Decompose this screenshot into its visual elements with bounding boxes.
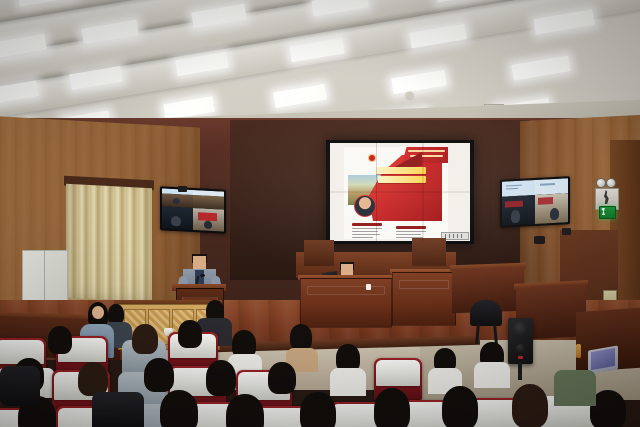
ceiling-light [511, 55, 571, 80]
ceiling-light [273, 84, 327, 108]
foreground-chair[interactable] [92, 392, 144, 427]
dais-panel-inset [399, 280, 449, 289]
credit-left-line [352, 237, 373, 238]
vc-tile [193, 208, 224, 232]
attendee-hair [268, 362, 296, 394]
slide-title-line-2 [378, 176, 426, 183]
attendee-hair [78, 362, 108, 396]
emergency-lights [596, 178, 616, 187]
attendee-hair [144, 358, 174, 392]
attendee-hair [374, 388, 410, 427]
credit-left-heading [352, 223, 382, 226]
credit-right-line [396, 231, 426, 232]
seat-headrest-cover [376, 360, 420, 386]
emergency-lamp-icon [596, 178, 606, 188]
dais-back-inset-right [412, 238, 446, 266]
video-wall-screen[interactable] [330, 143, 470, 241]
vc-tile [535, 193, 568, 224]
attendee-hair [132, 324, 158, 354]
vc-tile [502, 195, 535, 226]
right-video-conference-monitor[interactable] [500, 176, 570, 228]
attendee-body [554, 370, 596, 406]
conference-hall-photo [0, 0, 640, 427]
attendee-hair [290, 324, 312, 350]
exit-sign [599, 206, 616, 219]
ceiling-light [391, 70, 447, 95]
attendee-hair [512, 384, 548, 427]
wall-camera-icon [562, 228, 571, 235]
attendee-blue-head [92, 306, 104, 319]
slide-banner-text [408, 150, 445, 152]
attendee-hair [178, 320, 202, 348]
attendee-hair [48, 326, 72, 354]
slide-title-line-1 [376, 167, 426, 174]
left-video-conference-monitor[interactable] [160, 186, 226, 233]
credit-left-line [352, 231, 378, 232]
vc-tile [193, 190, 224, 209]
slide-credit-left [352, 223, 382, 238]
credit-left-line [352, 234, 380, 235]
slide-credit-right [396, 226, 426, 238]
dais-back-inset-left [304, 240, 334, 266]
wall-camera-icon [178, 186, 187, 192]
party-emblem-icon [368, 154, 376, 162]
bench-cup [366, 284, 371, 290]
slide-credits-area [344, 221, 448, 239]
wall-camera-icon [534, 236, 545, 244]
attendee-hair [300, 392, 336, 427]
dais-panel-inset [307, 286, 385, 295]
credit-left-line [352, 228, 382, 229]
foreground-chair[interactable] [0, 366, 40, 406]
emergency-lamp-icon [606, 178, 616, 188]
attendee-hair [206, 360, 236, 396]
credit-right-heading [396, 226, 426, 229]
microphone-head-icon [200, 274, 205, 277]
attendee-hair [442, 386, 478, 427]
credit-right-line [396, 234, 421, 235]
attendee-hair [226, 394, 264, 427]
attendee-body [474, 362, 510, 388]
attendee-body [330, 368, 366, 396]
vc-tile [162, 206, 193, 230]
attendee-hair [160, 390, 198, 427]
water-bottle [576, 344, 581, 358]
attendee-hair [108, 304, 124, 324]
right-monitor-screen [502, 178, 568, 225]
left-monitor-screen [162, 188, 224, 231]
smoke-detector-icon [406, 92, 413, 99]
slide-speaker-portrait [354, 195, 376, 217]
